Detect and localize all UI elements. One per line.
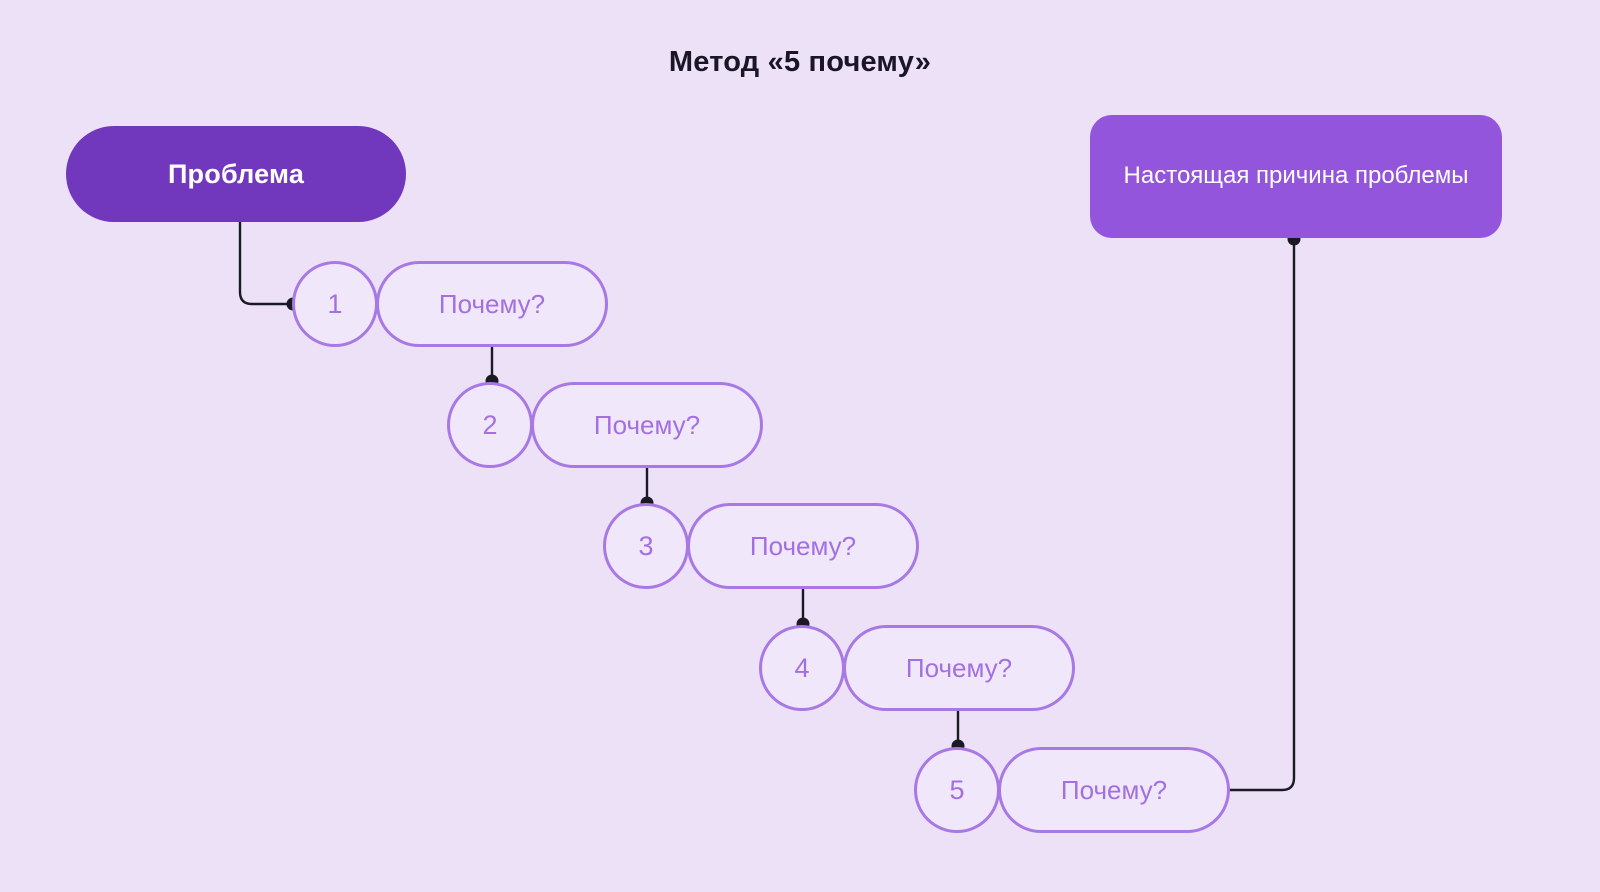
- step-question-pill-4[interactable]: Почему?: [843, 625, 1075, 711]
- step-question-pill-1[interactable]: Почему?: [376, 261, 608, 347]
- connector-problem-to-1: [240, 222, 293, 304]
- problem-node[interactable]: Проблема: [66, 126, 406, 222]
- step-number-badge-5: 5: [914, 747, 1000, 833]
- step-question-label-4: Почему?: [906, 653, 1012, 684]
- step-number-badge-4: 4: [759, 625, 845, 711]
- step-number-2: 2: [482, 410, 497, 441]
- connector-5-to-root-cause: [1230, 240, 1294, 790]
- step-number-badge-2: 2: [447, 382, 533, 468]
- problem-label: Проблема: [168, 159, 304, 190]
- step-number-4: 4: [794, 653, 809, 684]
- step-question-label-2: Почему?: [594, 410, 700, 441]
- step-number-5: 5: [949, 775, 964, 806]
- step-number-badge-1: 1: [292, 261, 378, 347]
- diagram-canvas: Метод «5 почему» Проблема: [0, 0, 1600, 892]
- step-number-badge-3: 3: [603, 503, 689, 589]
- page-title: Метод «5 почему»: [0, 46, 1600, 79]
- root-cause-node[interactable]: Настоящая причина проблемы: [1090, 115, 1502, 238]
- step-number-1: 1: [327, 289, 342, 320]
- step-question-label-3: Почему?: [750, 531, 856, 562]
- step-question-pill-3[interactable]: Почему?: [687, 503, 919, 589]
- root-cause-label: Настоящая причина проблемы: [1124, 159, 1469, 193]
- step-number-3: 3: [638, 531, 653, 562]
- step-question-pill-2[interactable]: Почему?: [531, 382, 763, 468]
- step-question-label-1: Почему?: [439, 289, 545, 320]
- step-question-label-5: Почему?: [1061, 775, 1167, 806]
- step-question-pill-5[interactable]: Почему?: [998, 747, 1230, 833]
